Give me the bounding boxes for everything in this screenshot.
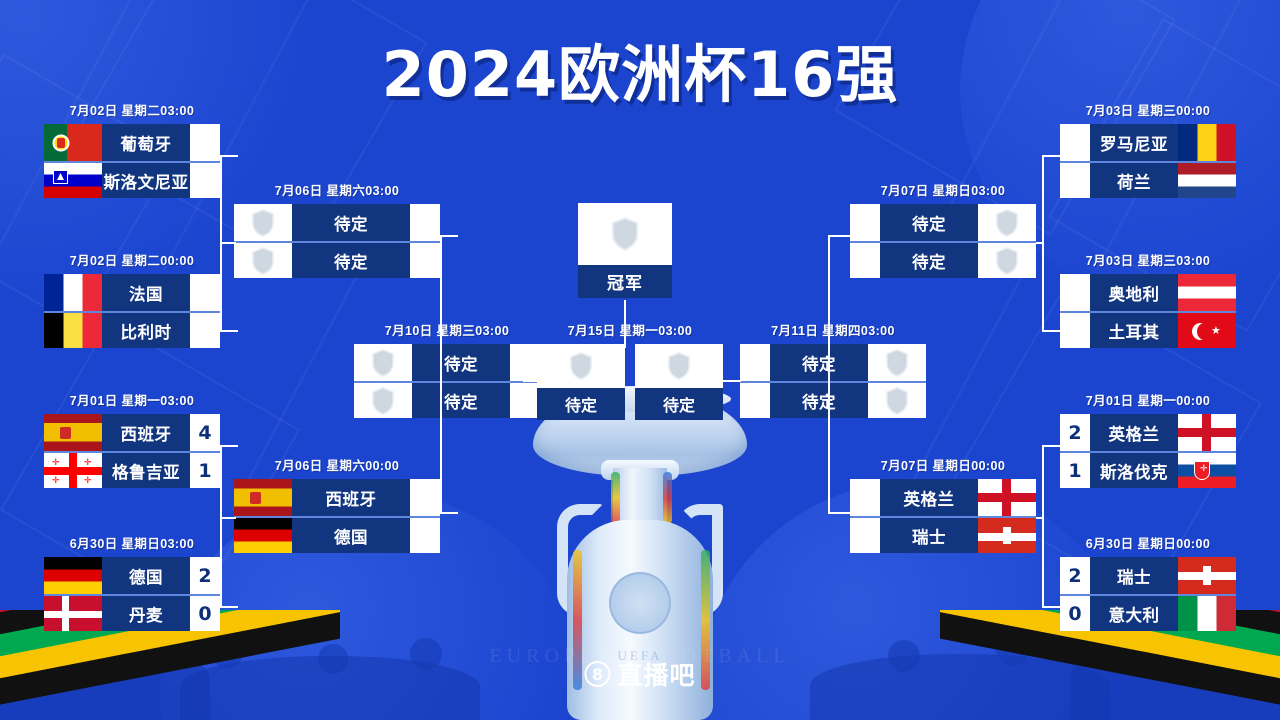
- flag-portugal: [44, 124, 102, 161]
- team-name: 土耳其: [1090, 313, 1178, 348]
- team-name: 待定: [412, 383, 510, 418]
- team-name: 待定: [880, 204, 978, 241]
- team-score: [510, 383, 540, 418]
- match-date: 7月10日 星期三03:00: [354, 320, 540, 339]
- connector: [1036, 517, 1044, 519]
- team-row[interactable]: 2 英格兰: [1060, 414, 1236, 451]
- team-name: 斯洛文尼亚: [102, 163, 190, 198]
- team-name: 法国: [102, 274, 190, 311]
- team-name: 荷兰: [1090, 163, 1178, 198]
- team-score: [510, 344, 540, 381]
- team-name: 待定: [880, 243, 978, 278]
- team-row[interactable]: 待定: [234, 204, 440, 241]
- match-card: 西班牙 4 ✛ ✛ ✛ ✛ 格鲁吉亚 1: [44, 414, 220, 488]
- team-name: 丹麦: [102, 596, 190, 631]
- shield-icon: [578, 203, 672, 265]
- match-date: 7月07日 星期日00:00: [850, 455, 1036, 474]
- connector: [220, 606, 238, 608]
- connector: [220, 155, 238, 157]
- connector: [220, 330, 238, 332]
- team-score: 1: [190, 453, 220, 488]
- team-score: 2: [190, 557, 220, 594]
- team-row[interactable]: 德国: [234, 516, 440, 553]
- team-row[interactable]: 西班牙 4: [44, 414, 220, 451]
- flag-georgia: ✛ ✛ ✛ ✛: [44, 453, 102, 488]
- team-name: 瑞士: [880, 518, 978, 553]
- team-name: 待定: [412, 344, 510, 381]
- team-name: 英格兰: [880, 479, 978, 516]
- team-row[interactable]: 奥地利: [1060, 274, 1236, 311]
- team-name: 英格兰: [1090, 414, 1178, 451]
- team-score: [850, 479, 880, 516]
- connector: [440, 235, 458, 237]
- champion-label: 冠军: [578, 265, 672, 298]
- team-score: [850, 518, 880, 553]
- shield-glyph: [569, 352, 593, 380]
- match-r16-right-2[interactable]: 7月03日 星期三03:00 奥地利 土耳其 ★: [1060, 250, 1236, 348]
- connector: [1042, 445, 1044, 608]
- team-score: [850, 204, 880, 241]
- connector: [828, 512, 850, 514]
- team-score: 4: [190, 414, 220, 451]
- flag-italy: [1178, 596, 1236, 631]
- match-date: 7月11日 星期四03:00: [740, 320, 926, 339]
- team-name: 待定: [292, 204, 410, 241]
- match-r16-right-1[interactable]: 7月03日 星期三00:00 罗马尼亚 荷兰: [1060, 100, 1236, 198]
- match-date: 7月03日 星期三00:00: [1060, 100, 1236, 119]
- shield-glyph: [610, 217, 640, 251]
- team-row[interactable]: 待定: [740, 381, 926, 418]
- match-card: 待定 待定: [354, 344, 540, 418]
- flag-england: [1178, 414, 1236, 451]
- team-name: 葡萄牙: [102, 124, 190, 161]
- team-score: 0: [1060, 596, 1090, 631]
- match-r16-left-2[interactable]: 7月02日 星期二00:00 法国 比利时: [44, 250, 220, 348]
- team-score: [190, 274, 220, 311]
- team-name: 格鲁吉亚: [102, 453, 190, 488]
- team-row[interactable]: 比利时: [44, 311, 220, 348]
- shield-icon: [978, 204, 1036, 241]
- team-score: [410, 479, 440, 516]
- shield-glyph: [885, 387, 909, 415]
- match-sf-left[interactable]: 7月10日 星期三03:00 待定 待定: [354, 320, 540, 418]
- champion-card[interactable]: 冠军: [578, 203, 672, 298]
- team-row[interactable]: 待定: [850, 241, 1036, 278]
- team-name: 待定: [635, 388, 723, 420]
- connector: [220, 517, 236, 519]
- flag-switzerland: [1178, 557, 1236, 594]
- match-r16-right-3[interactable]: 7月01日 星期一00:00 2 英格兰 1 斯洛伐克 ✛: [1060, 390, 1236, 488]
- team-name: 意大利: [1090, 596, 1178, 631]
- flag-slovakia: ✛: [1178, 453, 1236, 488]
- connector: [1042, 445, 1060, 447]
- team-score: [1060, 274, 1090, 311]
- match-date: 7月02日 星期二03:00: [44, 100, 220, 119]
- shield-icon: [234, 243, 292, 278]
- team-row[interactable]: 西班牙: [234, 479, 440, 516]
- team-score: 2: [1060, 414, 1090, 451]
- flag-england: [978, 479, 1036, 516]
- team-score: 1: [1060, 453, 1090, 488]
- flag-france: [44, 274, 102, 311]
- match-card: 待定 待定: [850, 204, 1036, 278]
- flag-turkey: ★: [1178, 313, 1236, 348]
- final-team-right[interactable]: 待定: [635, 344, 723, 420]
- team-score: [1060, 163, 1090, 198]
- team-row[interactable]: 2 瑞士: [1060, 557, 1236, 594]
- shield-glyph: [371, 387, 395, 415]
- match-card: 待定 待定: [740, 344, 926, 418]
- team-row[interactable]: 荷兰: [1060, 161, 1236, 198]
- flag-netherlands: [1178, 163, 1236, 198]
- team-row[interactable]: 法国: [44, 274, 220, 311]
- team-row[interactable]: 待定: [354, 381, 540, 418]
- match-r16-left-3[interactable]: 7月01日 星期一03:00 西班牙 4 ✛ ✛ ✛ ✛: [44, 390, 220, 488]
- team-score: [410, 204, 440, 241]
- flag-austria: [1178, 274, 1236, 311]
- bracket-page: UEFA EUROPEAN FOOTBALL 2024欧洲杯16强 7月02日 …: [0, 0, 1280, 720]
- page-title: 2024欧洲杯16强: [0, 44, 1280, 106]
- match-qf-right-1[interactable]: 7月07日 星期日03:00 待定 待定: [850, 180, 1036, 278]
- match-card: 葡萄牙 斯洛文尼亚: [44, 124, 220, 198]
- final-pair: 待定 待定: [537, 344, 723, 420]
- match-date: 6月30日 星期日03:00: [44, 533, 220, 552]
- match-card: 德国 2 丹麦 0: [44, 557, 220, 631]
- shield-glyph: [251, 247, 275, 275]
- team-score: [740, 383, 770, 418]
- shield-glyph: [995, 247, 1019, 275]
- match-date: 7月01日 星期一00:00: [1060, 390, 1236, 409]
- flag-germany: [234, 518, 292, 553]
- match-r16-right-4[interactable]: 6月30日 星期日00:00 2 瑞士 0 意大利: [1060, 533, 1236, 631]
- team-score: [1060, 313, 1090, 348]
- flag-romania: [1178, 124, 1236, 161]
- team-row[interactable]: 罗马尼亚: [1060, 124, 1236, 161]
- match-date: 7月15日 星期一03:00: [537, 320, 723, 339]
- shield-glyph: [667, 352, 691, 380]
- team-score: [190, 163, 220, 198]
- shield-icon: [868, 383, 926, 418]
- team-row[interactable]: 待定: [850, 204, 1036, 241]
- team-score: [190, 124, 220, 161]
- match-r16-left-4[interactable]: 6月30日 星期日03:00 德国 2 丹麦 0: [44, 533, 220, 631]
- team-score: [850, 243, 880, 278]
- match-card: 法国 比利时: [44, 274, 220, 348]
- connector: [1042, 155, 1060, 157]
- match-card: 英格兰 瑞士: [850, 479, 1036, 553]
- shield-icon: [635, 344, 723, 388]
- team-row[interactable]: ✛ ✛ ✛ ✛ 格鲁吉亚 1: [44, 451, 220, 488]
- shield-icon: [354, 383, 412, 418]
- team-row[interactable]: 1 斯洛伐克 ✛: [1060, 451, 1236, 488]
- shield-icon: [868, 344, 926, 381]
- match-sf-right[interactable]: 7月11日 星期四03:00 待定 待定: [740, 320, 926, 418]
- connector: [523, 380, 539, 382]
- team-score: [740, 344, 770, 381]
- watermark-logo-icon: 8: [584, 661, 610, 687]
- shield-icon: [978, 243, 1036, 278]
- match-card: 待定 待定: [234, 204, 440, 278]
- team-row[interactable]: 土耳其 ★: [1060, 311, 1236, 348]
- team-row[interactable]: 瑞士: [850, 516, 1036, 553]
- team-name: 德国: [292, 518, 410, 553]
- match-card: 2 瑞士 0 意大利: [1060, 557, 1236, 631]
- connector: [220, 445, 222, 608]
- team-score: [1060, 124, 1090, 161]
- match-card: 西班牙 德国: [234, 479, 440, 553]
- match-card: 罗马尼亚 荷兰: [1060, 124, 1236, 198]
- team-name: 待定: [292, 243, 410, 278]
- team-name: 奥地利: [1090, 274, 1178, 311]
- connector: [440, 235, 442, 514]
- team-score: [410, 518, 440, 553]
- team-name: 西班牙: [102, 414, 190, 451]
- connector: [440, 512, 458, 514]
- shield-icon: [537, 344, 625, 388]
- match-date: 7月02日 星期二00:00: [44, 250, 220, 269]
- connector: [1042, 606, 1060, 608]
- team-name: 瑞士: [1090, 557, 1178, 594]
- match-card: 2 英格兰 1 斯洛伐克 ✛: [1060, 414, 1236, 488]
- connector: [624, 300, 626, 348]
- team-score: 2: [1060, 557, 1090, 594]
- shield-glyph: [995, 209, 1019, 237]
- flag-germany: [44, 557, 102, 594]
- team-score: 0: [190, 596, 220, 631]
- team-name: 德国: [102, 557, 190, 594]
- match-date: 7月03日 星期三03:00: [1060, 250, 1236, 269]
- site-watermark: 8 直播吧: [584, 656, 695, 692]
- match-r16-left-1[interactable]: 7月02日 星期二03:00 葡萄牙 斯洛文尼亚: [44, 100, 220, 198]
- shield-glyph: [371, 349, 395, 377]
- flag-spain: [44, 414, 102, 451]
- team-name: 斯洛伐克: [1090, 453, 1178, 488]
- connector: [1036, 242, 1044, 244]
- match-card: 奥地利 土耳其 ★: [1060, 274, 1236, 348]
- final-team-left[interactable]: 待定: [537, 344, 625, 420]
- team-row[interactable]: 斯洛文尼亚: [44, 161, 220, 198]
- match-date: 7月07日 星期日03:00: [850, 180, 1036, 199]
- shield-icon: [354, 344, 412, 381]
- connector: [828, 235, 830, 514]
- team-score: [190, 313, 220, 348]
- team-row[interactable]: 丹麦 0: [44, 594, 220, 631]
- connector: [723, 380, 741, 382]
- team-row[interactable]: 待定: [354, 344, 540, 381]
- connector: [220, 445, 238, 447]
- match-date: 6月30日 星期日00:00: [1060, 533, 1236, 552]
- flag-switzerland: [978, 518, 1036, 553]
- flag-spain: [234, 479, 292, 516]
- team-row[interactable]: 葡萄牙: [44, 124, 220, 161]
- match-final[interactable]: 7月15日 星期一03:00 待定 待定: [537, 320, 723, 420]
- shield-icon: [234, 204, 292, 241]
- team-row[interactable]: 0 意大利: [1060, 594, 1236, 631]
- match-qf-left-1[interactable]: 7月06日 星期六03:00 待定 待定: [234, 180, 440, 278]
- connector: [1042, 330, 1060, 332]
- match-qf-left-2[interactable]: 7月06日 星期六00:00 西班牙 德国: [234, 455, 440, 553]
- team-name: 比利时: [102, 313, 190, 348]
- team-score: [410, 243, 440, 278]
- flag-slovenia: [44, 163, 102, 198]
- shield-glyph: [885, 349, 909, 377]
- watermark-text: 直播吧: [617, 656, 695, 692]
- team-row[interactable]: 待定: [234, 241, 440, 278]
- team-name: 待定: [770, 383, 868, 418]
- match-date: 7月01日 星期一03:00: [44, 390, 220, 409]
- connector: [828, 235, 850, 237]
- match-date: 7月06日 星期六00:00: [234, 455, 440, 474]
- team-name: 待定: [537, 388, 625, 420]
- flag-denmark: [44, 596, 102, 631]
- team-name: 西班牙: [292, 479, 410, 516]
- shield-glyph: [251, 209, 275, 237]
- match-date: 7月06日 星期六03:00: [234, 180, 440, 199]
- team-row[interactable]: 英格兰: [850, 479, 1036, 516]
- connector: [220, 242, 236, 244]
- team-name: 罗马尼亚: [1090, 124, 1178, 161]
- flag-belgium: [44, 313, 102, 348]
- match-qf-right-2[interactable]: 7月07日 星期日00:00 英格兰 瑞士: [850, 455, 1036, 553]
- team-row[interactable]: 德国 2: [44, 557, 220, 594]
- team-row[interactable]: 待定: [740, 344, 926, 381]
- team-name: 待定: [770, 344, 868, 381]
